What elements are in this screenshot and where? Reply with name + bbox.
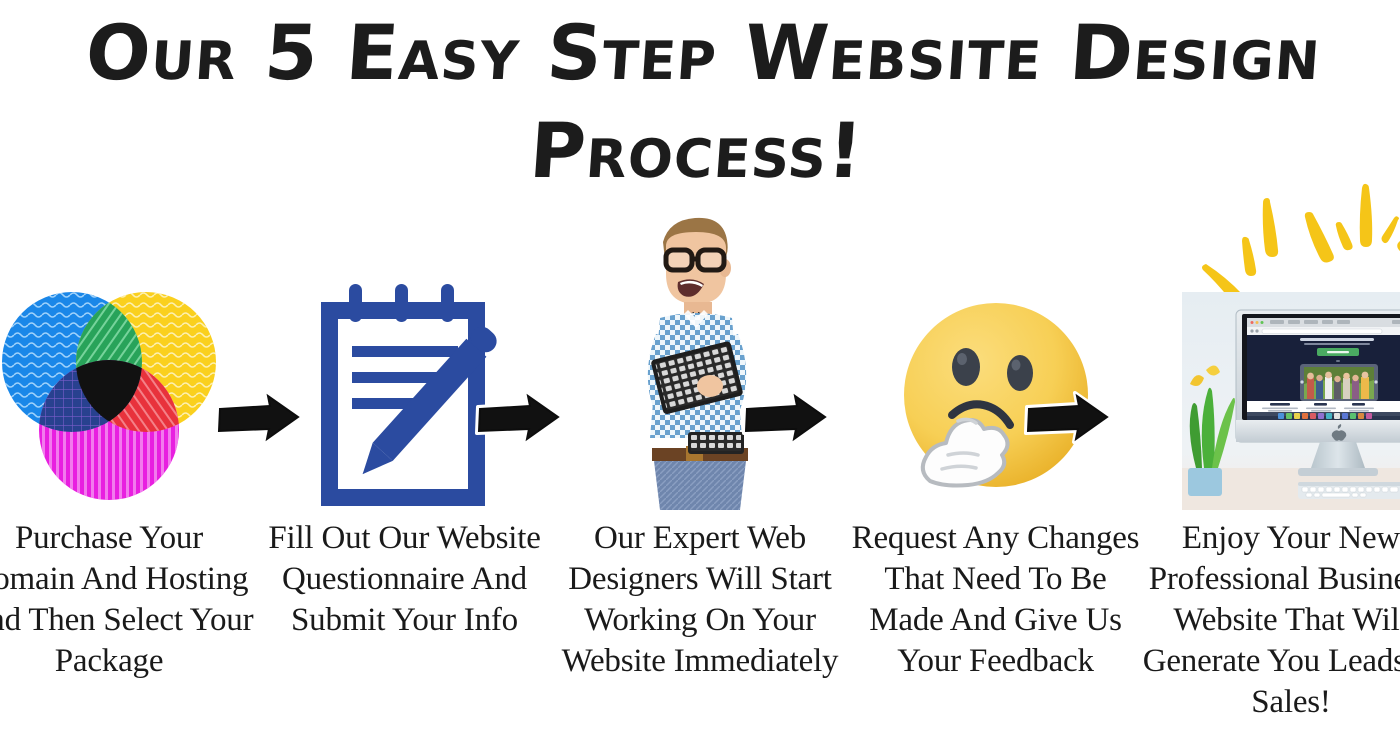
infographic-page: Our 5 Easy Step Website Design Process! bbox=[0, 0, 1400, 737]
step-2: Fill Out Our Website Questionnaire And S… bbox=[296, 180, 514, 737]
page-title: Our 5 Easy Step Website Design Process! bbox=[0, 4, 1400, 200]
arrow-step-1-to-2 bbox=[213, 390, 305, 446]
step-3-artwork bbox=[591, 180, 809, 510]
step-3-caption: Our Expert Web Designers Will Start Work… bbox=[555, 518, 845, 682]
web-designer-photo bbox=[600, 210, 800, 510]
step-4-artwork bbox=[887, 180, 1105, 510]
step-1-artwork bbox=[0, 180, 218, 510]
step-5: Enjoy Your New Professional Business Web… bbox=[1182, 180, 1400, 737]
arrow-step-3-to-4 bbox=[740, 390, 832, 446]
step-4-caption: Request Any Changes That Need To Be Made… bbox=[846, 518, 1146, 682]
step-4: Request Any Changes That Need To Be Made… bbox=[887, 180, 1105, 737]
step-2-artwork bbox=[296, 180, 514, 510]
title-line-1: Our 5 Easy Step Website Design bbox=[0, 4, 1400, 102]
venn-diagram-icon bbox=[0, 290, 218, 510]
step-1-caption: Purchase Your Domain And Hosting And The… bbox=[0, 518, 254, 682]
step-2-caption: Fill Out Our Website Questionnaire And S… bbox=[255, 518, 555, 641]
arrow-step-4-to-5 bbox=[1022, 390, 1114, 446]
steps-row: Purchase Your Domain And Hosting And The… bbox=[0, 180, 1400, 737]
step-5-caption: Enjoy Your New Professional Business Web… bbox=[1141, 518, 1400, 723]
step-3: Our Expert Web Designers Will Start Work… bbox=[591, 180, 809, 737]
step-5-artwork bbox=[1182, 180, 1400, 510]
imac-website-photo bbox=[1182, 292, 1400, 510]
step-1: Purchase Your Domain And Hosting And The… bbox=[0, 180, 218, 737]
arrow-step-2-to-3 bbox=[473, 390, 565, 446]
